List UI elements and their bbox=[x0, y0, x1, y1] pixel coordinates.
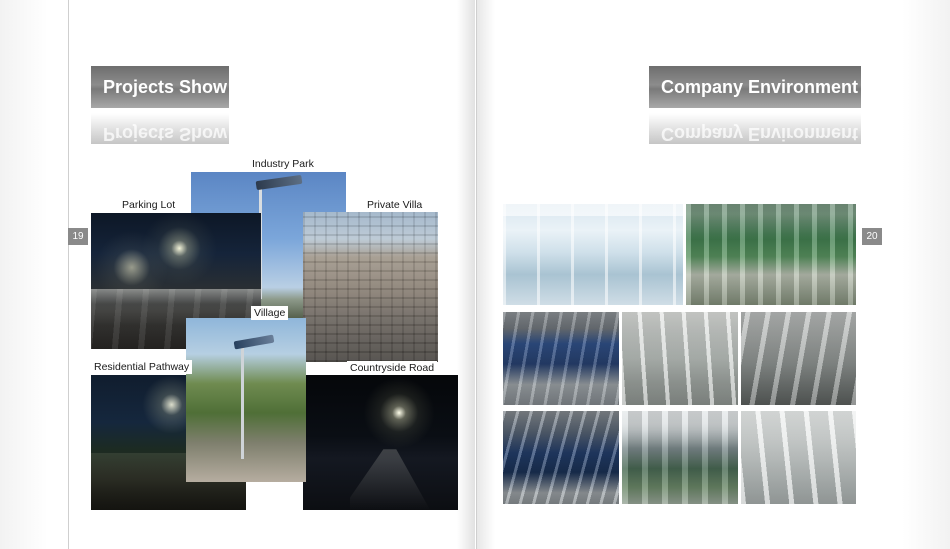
page-number-left: 19 bbox=[68, 228, 88, 245]
caption-private-villa: Private Villa bbox=[364, 198, 425, 212]
photo-lamp-housing-assembly bbox=[622, 312, 738, 405]
left-page-title-reflection-text: Projects Show bbox=[91, 124, 227, 144]
left-page-title-banner: Projects Show bbox=[91, 66, 229, 108]
left-page-edge-shadow bbox=[0, 0, 68, 549]
photo-private-villa bbox=[303, 212, 438, 362]
photo-village bbox=[186, 318, 306, 482]
photo-lamp-housing-stack bbox=[741, 312, 856, 405]
photo-electronics-workshop bbox=[686, 204, 856, 305]
left-page: Projects Show Projects Show Industry Par… bbox=[68, 0, 475, 549]
photo-production-workers bbox=[622, 411, 738, 504]
photo-finished-goods-warehouse bbox=[741, 411, 856, 504]
catalog-spread: Projects Show Projects Show Industry Par… bbox=[0, 0, 950, 549]
caption-village: Village bbox=[251, 306, 288, 320]
photo-solar-panel-array bbox=[503, 411, 619, 504]
left-gutter-shadow bbox=[457, 0, 475, 549]
right-page: Company Environment Company Environment bbox=[476, 0, 883, 549]
right-page-edge-shadow bbox=[882, 0, 950, 549]
caption-industry-park: Industry Park bbox=[249, 157, 317, 171]
right-page-title-reflection-text: Company Environment bbox=[649, 124, 858, 144]
photo-solar-panel-assembly-line bbox=[503, 312, 619, 405]
left-page-title-reflection: Projects Show bbox=[91, 108, 229, 144]
left-page-title: Projects Show bbox=[91, 66, 227, 108]
photo-countryside-road bbox=[303, 375, 458, 510]
caption-countryside-road: Countryside Road bbox=[347, 361, 437, 375]
page-number-right: 20 bbox=[862, 228, 882, 245]
caption-parking-lot: Parking Lot bbox=[119, 198, 178, 212]
right-page-title-reflection: Company Environment bbox=[649, 108, 861, 144]
photo-office-lobby bbox=[503, 204, 683, 305]
right-gutter-shadow bbox=[477, 0, 495, 549]
right-page-title-banner: Company Environment bbox=[649, 66, 861, 108]
right-page-title: Company Environment bbox=[649, 66, 858, 108]
caption-residential-pathway: Residential Pathway bbox=[91, 360, 192, 374]
